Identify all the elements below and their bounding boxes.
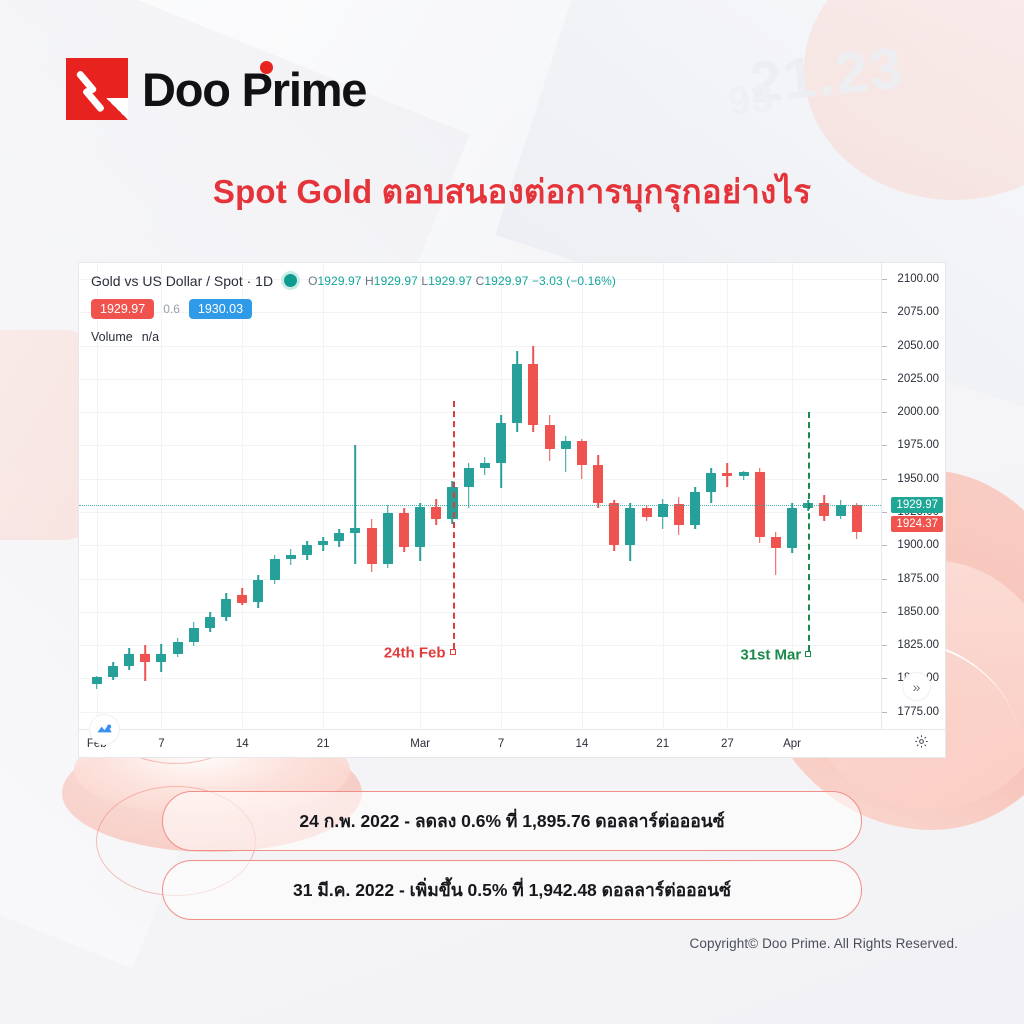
chart-symbol-label[interactable]: Gold vs US Dollar / Spot · 1D (91, 273, 273, 289)
price-axis-tick (882, 545, 887, 546)
candlestick (367, 519, 377, 572)
brand-logo: Doo Prime (66, 58, 366, 120)
candlestick (496, 415, 506, 488)
ohlc-close-value: 1929.97 (484, 274, 528, 288)
price-axis-tick (882, 678, 887, 679)
candlestick-body (722, 473, 732, 476)
candlestick (561, 436, 571, 472)
candlestick-body (302, 545, 312, 554)
candlestick-body (156, 654, 166, 662)
candlestick-body (561, 441, 571, 449)
price-axis-tick (882, 445, 887, 446)
time-axis[interactable]: Feb71421Mar7142127Apr (79, 729, 945, 757)
price-axis-tick (882, 579, 887, 580)
copyright-text: Copyright© Doo Prime. All Rights Reserve… (690, 936, 959, 951)
time-axis-label: 14 (236, 738, 249, 750)
candlestick (706, 468, 716, 503)
brand-name: Doo Prime (142, 62, 366, 117)
candlestick (852, 503, 862, 539)
chart-card: 24th Feb31st Mar 1775.001800.001825.0018… (78, 262, 946, 758)
candlestick-body (189, 628, 199, 643)
candlestick (270, 555, 280, 584)
logo-corner-notch (106, 98, 128, 120)
candlestick-body (350, 528, 360, 533)
annotation-31st-mar-label: 31st Mar (740, 647, 801, 664)
candlestick-body (399, 513, 409, 546)
price-axis-label: 2025.00 (897, 373, 939, 385)
candlestick (690, 487, 700, 530)
candlestick-body (480, 463, 490, 468)
grid-line-horizontal (79, 579, 881, 580)
candlestick-body (92, 677, 102, 684)
candlestick-body (593, 465, 603, 502)
candlestick-body (706, 473, 716, 492)
candlestick-body (496, 423, 506, 463)
price-axis-tick (882, 412, 887, 413)
candlestick-body (512, 364, 522, 423)
grid-line-horizontal (79, 412, 881, 413)
caption-pill-mar: 31 มี.ค. 2022 - เพิ่มขึ้น 0.5% ที่ 1,942… (162, 860, 862, 920)
series-status-dot-icon (281, 271, 300, 290)
time-axis-label: 27 (721, 738, 734, 750)
candlestick-body (787, 508, 797, 548)
ohlc-high-value: 1929.97 (374, 274, 418, 288)
price-axis-tick (882, 712, 887, 713)
indicator-badge-gray: 0.6 (163, 302, 180, 316)
candlestick (609, 500, 619, 551)
candlestick (318, 537, 328, 550)
candlestick (512, 351, 522, 432)
candlestick (577, 439, 587, 479)
candlestick-body (286, 555, 296, 559)
candlestick-body (431, 507, 441, 519)
candlestick (156, 644, 166, 672)
candlestick-body (528, 364, 538, 425)
candlestick-body (609, 503, 619, 546)
price-axis-tick (882, 379, 887, 380)
candlestick (642, 505, 652, 521)
candlestick (771, 532, 781, 575)
price-axis-tick (882, 346, 887, 347)
candlestick (415, 503, 425, 562)
grid-line-horizontal (79, 379, 881, 380)
watermark-number-secondary: 93 (725, 76, 776, 126)
time-axis-label: 21 (317, 738, 330, 750)
time-axis-label: Apr (783, 738, 801, 750)
candlestick-body (270, 559, 280, 580)
candlestick (658, 499, 668, 530)
candlestick (140, 645, 150, 681)
time-axis-label: 21 (656, 738, 669, 750)
page-title: Spot Gold ตอบสนองต่อการบุกรุกอย่างไร (0, 165, 1024, 218)
candlestick (431, 499, 441, 526)
candlestick (593, 455, 603, 508)
price-axis-tick (882, 645, 887, 646)
price-axis[interactable]: 1775.001800.001825.001850.001875.001900.… (881, 263, 945, 729)
grid-line-horizontal (79, 612, 881, 613)
candlestick (383, 505, 393, 568)
indicator-badge-red[interactable]: 1929.97 (91, 299, 154, 319)
grid-line-horizontal (79, 712, 881, 713)
candlestick-body (221, 599, 231, 618)
price-axis-label: 1825.00 (897, 639, 939, 651)
candlestick (92, 676, 102, 689)
candlestick (836, 500, 846, 519)
candlestick-body (577, 441, 587, 465)
logo-dot-icon (260, 61, 273, 74)
gear-icon[interactable] (914, 734, 929, 754)
chart-legend: Gold vs US Dollar / Spot · 1D O1929.97 H… (91, 271, 616, 344)
candlestick-body (237, 595, 247, 603)
time-axis-label: 7 (158, 738, 164, 750)
grid-line-vertical (727, 263, 728, 729)
candlestick-body (771, 537, 781, 548)
price-axis-label: 1950.00 (897, 473, 939, 485)
candlestick-body (642, 508, 652, 517)
candlestick-body (625, 508, 635, 545)
candlestick-body (415, 507, 425, 547)
price-axis-label: 2075.00 (897, 306, 939, 318)
candlestick (221, 593, 231, 621)
candlestick-body (140, 654, 150, 662)
candlestick-body (205, 617, 215, 628)
price-axis-label: 1900.00 (897, 539, 939, 551)
ohlc-values: O1929.97 H1929.97 L1929.97 C1929.97 −3.0… (308, 274, 616, 288)
candlestick (286, 549, 296, 565)
candlestick (237, 588, 247, 605)
price-axis-tick (882, 279, 887, 280)
candlestick-body (108, 666, 118, 677)
scroll-forward-button[interactable]: » (902, 672, 931, 701)
time-axis-label: Mar (410, 738, 430, 750)
candlestick-body (674, 504, 684, 525)
price-axis-label: 2000.00 (897, 406, 939, 418)
candlestick (108, 662, 118, 679)
ohlc-high-key: H (365, 274, 374, 288)
price-axis-label: 1875.00 (897, 573, 939, 585)
candlestick (253, 575, 263, 608)
candlestick-body (464, 468, 474, 487)
ohlc-open-value: 1929.97 (318, 274, 362, 288)
tradingview-logo-icon[interactable] (89, 714, 120, 745)
candlestick (545, 415, 555, 462)
candlestick (722, 463, 732, 487)
candlestick-body (739, 472, 749, 476)
price-axis-tick (882, 479, 887, 480)
grid-line-horizontal (79, 678, 881, 679)
ohlc-change-value: −3.03 (−0.16%) (532, 274, 616, 288)
candlestick (787, 503, 797, 554)
grid-line-horizontal (79, 445, 881, 446)
price-axis-label: 2100.00 (897, 273, 939, 285)
candlestick-body (383, 513, 393, 564)
grid-line-horizontal (79, 545, 881, 546)
candlestick (739, 471, 749, 480)
volume-label: Volume (91, 330, 133, 344)
candlestick (625, 503, 635, 562)
candlestick (464, 463, 474, 508)
candlestick (334, 529, 344, 546)
time-axis-label: 7 (498, 738, 504, 750)
previous-close-badge[interactable]: 1924.37 (891, 516, 943, 532)
time-axis-label: 14 (575, 738, 588, 750)
price-axis-label: 1775.00 (897, 706, 939, 718)
doo-prime-logo-icon (66, 58, 128, 120)
candlestick (173, 638, 183, 657)
indicator-badge-blue[interactable]: 1930.03 (189, 299, 252, 319)
price-axis-tick (882, 612, 887, 613)
price-axis-label: 1850.00 (897, 606, 939, 618)
annotation-31st-mar-marker (805, 651, 811, 657)
candlestick (205, 612, 215, 632)
candlestick-body (545, 425, 555, 449)
current-price-line (79, 505, 881, 506)
candlestick (819, 495, 829, 522)
price-axis-tick (882, 512, 887, 513)
ohlc-open-key: O (308, 274, 317, 288)
candlestick-body (367, 528, 377, 564)
candlestick-body (334, 533, 344, 541)
candlestick (189, 622, 199, 646)
price-axis-tick (882, 312, 887, 313)
candlestick (302, 541, 312, 560)
candlestick-body (690, 492, 700, 525)
price-axis-label: 2050.00 (897, 340, 939, 352)
caption-pill-feb: 24 ก.พ. 2022 - ลดลง 0.6% ที่ 1,895.76 ดอ… (162, 791, 862, 851)
annotation-31st-mar-line (808, 412, 810, 651)
candlestick (528, 346, 538, 433)
candlestick-body (253, 580, 263, 603)
candlestick (480, 457, 490, 474)
candlestick-body (852, 505, 862, 532)
candlestick (124, 648, 134, 671)
candlestick-body (836, 505, 846, 516)
annotation-24th-feb-line (453, 401, 455, 649)
volume-value: n/a (142, 330, 159, 344)
candlestick (674, 497, 684, 534)
annotation-24th-feb-marker (450, 649, 456, 655)
candlestick-wick (144, 645, 146, 681)
price-axis-label: 1975.00 (897, 439, 939, 451)
ohlc-low-value: 1929.97 (428, 274, 472, 288)
current-price-badge[interactable]: 1929.97 (891, 497, 943, 513)
candlestick-body (318, 541, 328, 545)
candlestick-body (173, 642, 183, 654)
grid-line-horizontal (79, 346, 881, 347)
grid-line-vertical (663, 263, 664, 729)
candlestick (399, 508, 409, 552)
annotation-24th-feb-label: 24th Feb (384, 645, 446, 662)
candlestick-body (124, 654, 134, 666)
